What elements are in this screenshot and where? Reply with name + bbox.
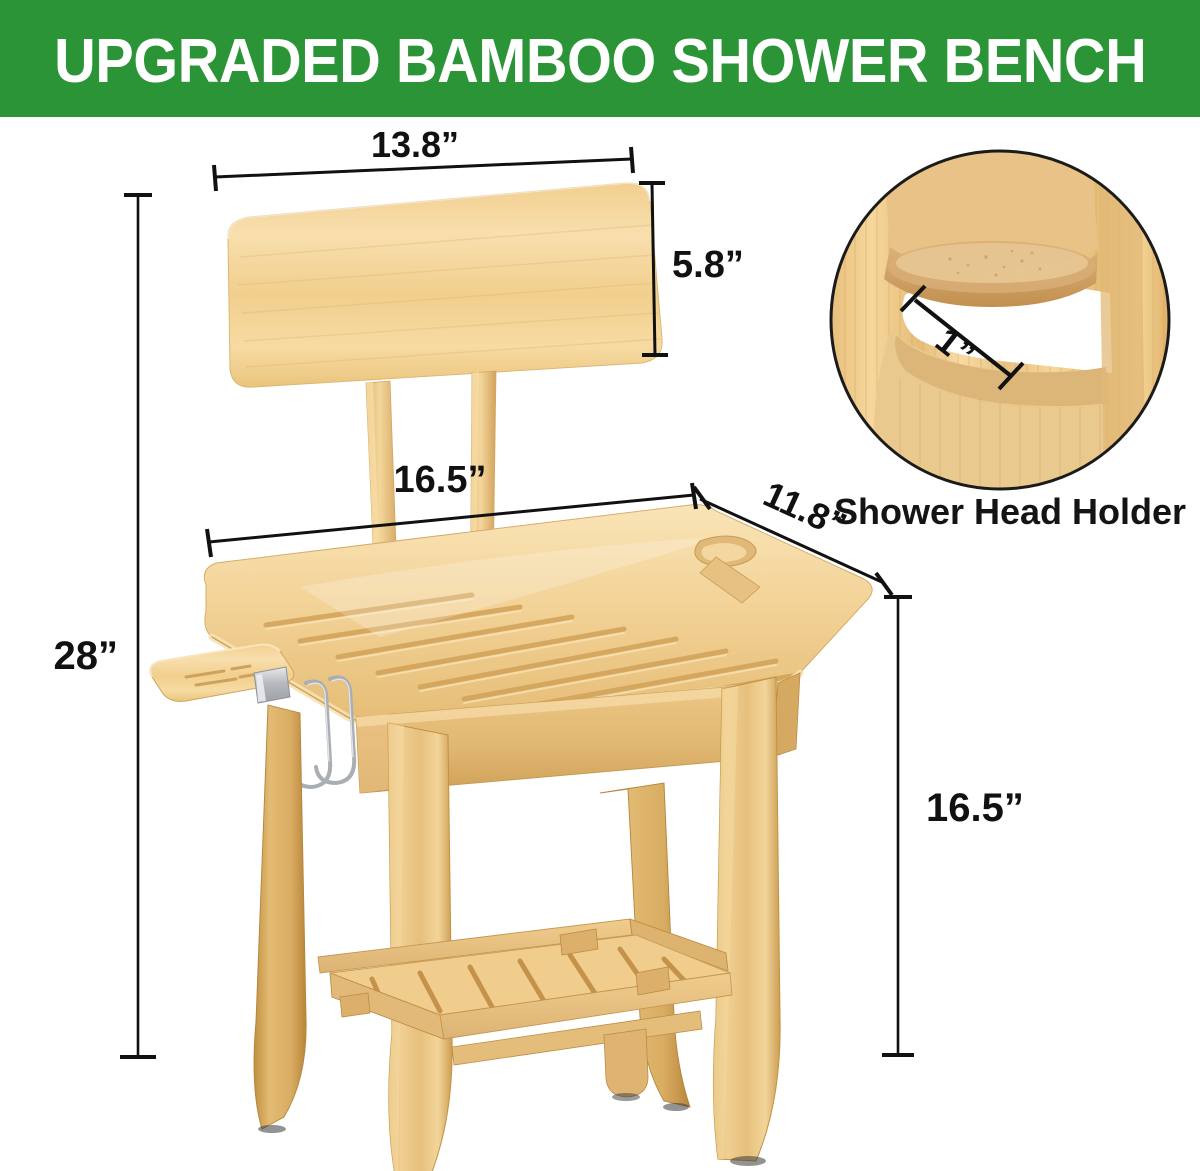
dimension-label-seat-height: 16.5” — [926, 786, 1024, 830]
infographic-page: UPGRADED BAMBOO SHOWER BENCH — [0, 0, 1200, 1171]
soap-dish-clip — [254, 667, 290, 703]
dimension-label-backrest-height: 5.8” — [672, 244, 744, 286]
dimension-backrest-height: 5.8” — [639, 183, 744, 355]
inset-caption: Shower Head Holder — [834, 491, 1186, 532]
dimension-label-seat-width: 16.5” — [394, 459, 487, 501]
dimension-label-backrest-width: 13.8” — [371, 124, 459, 165]
header-banner: UPGRADED BAMBOO SHOWER BENCH — [0, 0, 1200, 117]
product-illustration-stage: 13.8” 5.8” 28” 16.5” — [0, 117, 1200, 1171]
bamboo-bench-illustration — [150, 183, 872, 1171]
dimension-backrest-width: 13.8” — [214, 124, 633, 191]
dimension-seat-height: 16.5” — [882, 597, 1024, 1055]
backrest-panel — [228, 183, 662, 387]
shower-head-holder-inset: 1” Shower Head Holder — [831, 145, 1186, 532]
dimension-label-overall-height: 28” — [54, 634, 119, 678]
dimension-overall-height: 28” — [54, 195, 157, 1057]
page-title: UPGRADED BAMBOO SHOWER BENCH — [54, 25, 1146, 93]
